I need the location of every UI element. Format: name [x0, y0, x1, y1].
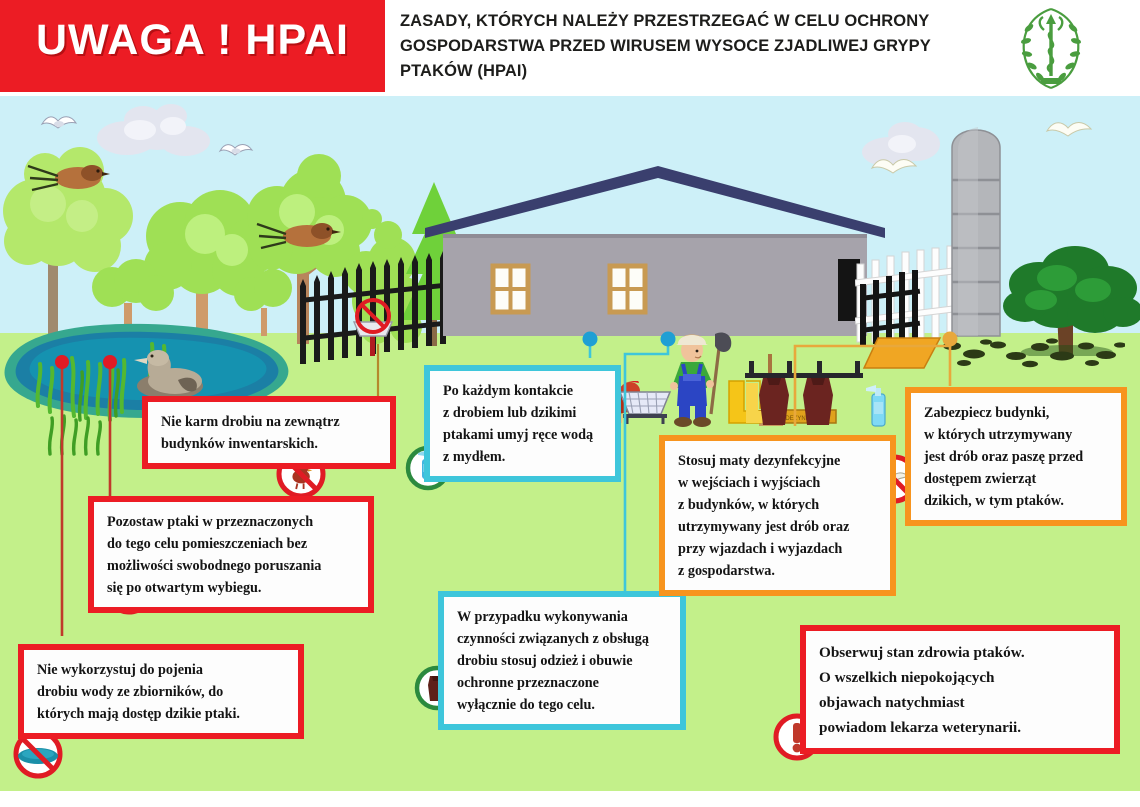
callout-disinfection-mats[interactable]: Stosuj maty dezynfekcyjne w wejściach i … [659, 435, 896, 596]
callout-observe-health[interactable]: Obserwuj stan zdrowia ptaków. O wszelkic… [800, 625, 1120, 754]
veterinary-inspection-logo [1008, 4, 1094, 92]
callout-protective-clothing[interactable]: W przypadku wykonywania czynności związa… [438, 591, 686, 730]
callout-keep-birds-indoors[interactable]: Pozostaw ptaki w przeznaczonych do tego … [88, 496, 374, 613]
callout-wash-hands[interactable]: Po każdym kontakcie z drobiem lub dzikim… [424, 365, 621, 482]
callout-secure-buildings[interactable]: Zabezpiecz budynki, w których utrzymywan… [905, 387, 1127, 526]
callout-no-surface-water[interactable]: Nie wykorzystuj do pojenia drobiu wody z… [18, 644, 304, 739]
alert-banner-label: UWAGA ! HPAI [0, 16, 385, 65]
footer-strip [0, 791, 1140, 807]
header-bar: UWAGA ! HPAI ZASADY, KTÓRYCH NALEŻY PRZE… [0, 0, 1140, 96]
farm-illustration: DEZYNFEKCJA [0, 96, 1140, 791]
page-title: ZASADY, KTÓRYCH NALEŻY PRZESTRZEGAĆ W CE… [400, 9, 980, 84]
infographic-root: UWAGA ! HPAI ZASADY, KTÓRYCH NALEŻY PRZE… [0, 0, 1140, 807]
callout-no-outdoor-feeding[interactable]: Nie karm drobiu na zewnątrz budynków inw… [142, 396, 396, 469]
